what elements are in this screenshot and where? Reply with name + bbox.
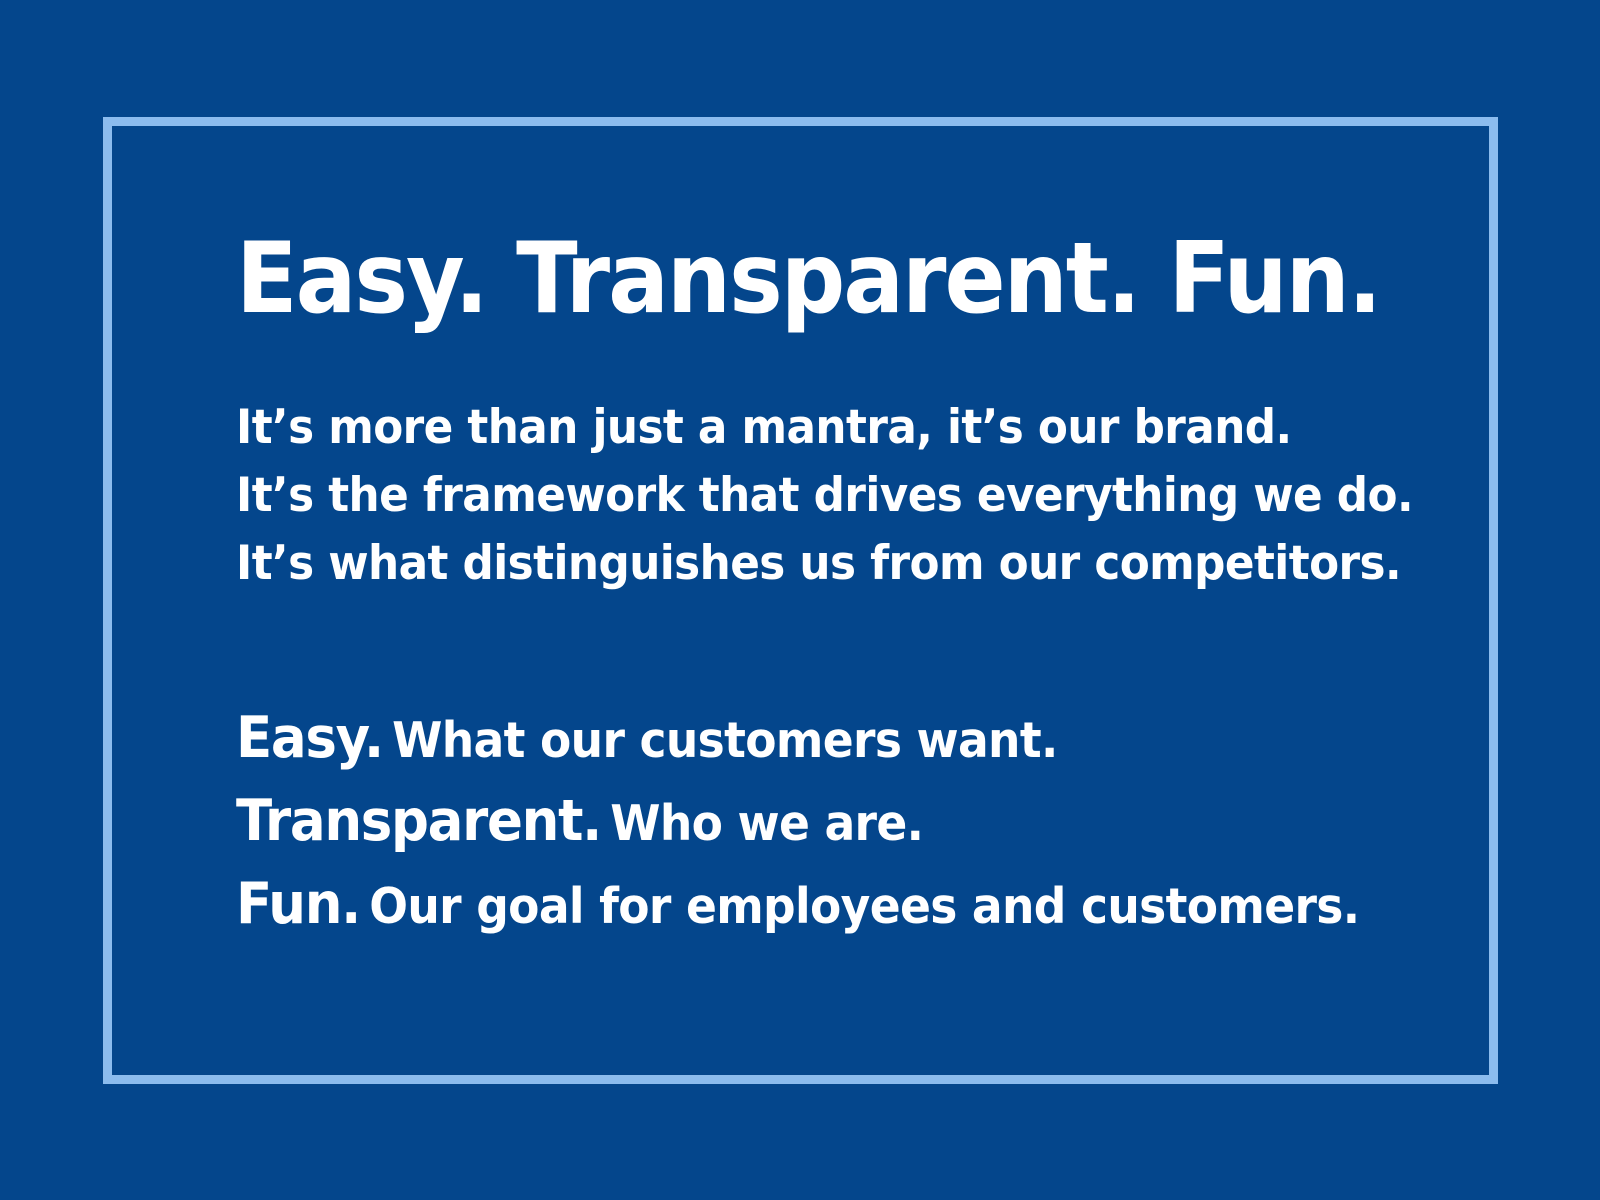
pillar-word-transparent: Transparent.	[236, 788, 610, 854]
pillars-list: Easy.What our customers want. Transparen…	[236, 598, 1426, 947]
slide-canvas: Easy. Transparent. Fun. It’s more than j…	[0, 0, 1600, 1200]
pillar-item-fun: Fun.Our goal for employees and customers…	[236, 864, 1343, 947]
slide-content: Easy. Transparent. Fun. It’s more than j…	[236, 228, 1426, 947]
page-title: Easy. Transparent. Fun.	[236, 228, 1331, 332]
pillar-description-easy: What our customers want.	[392, 712, 1057, 769]
pillar-item-transparent: Transparent.Who we are.	[236, 781, 1343, 864]
intro-line-2: It’s the framework that drives everythin…	[236, 462, 1343, 530]
pillar-item-easy: Easy.What our customers want.	[236, 698, 1343, 781]
intro-line-3: It’s what distinguishes us from our comp…	[236, 530, 1343, 598]
pillar-description-transparent: Who we are.	[610, 795, 923, 852]
pillar-description-fun: Our goal for employees and customers.	[369, 878, 1359, 935]
pillar-word-fun: Fun.	[236, 871, 369, 937]
intro-paragraph: It’s more than just a mantra, it’s our b…	[236, 332, 1426, 598]
pillar-word-easy: Easy.	[236, 705, 392, 771]
intro-line-1: It’s more than just a mantra, it’s our b…	[236, 394, 1343, 462]
